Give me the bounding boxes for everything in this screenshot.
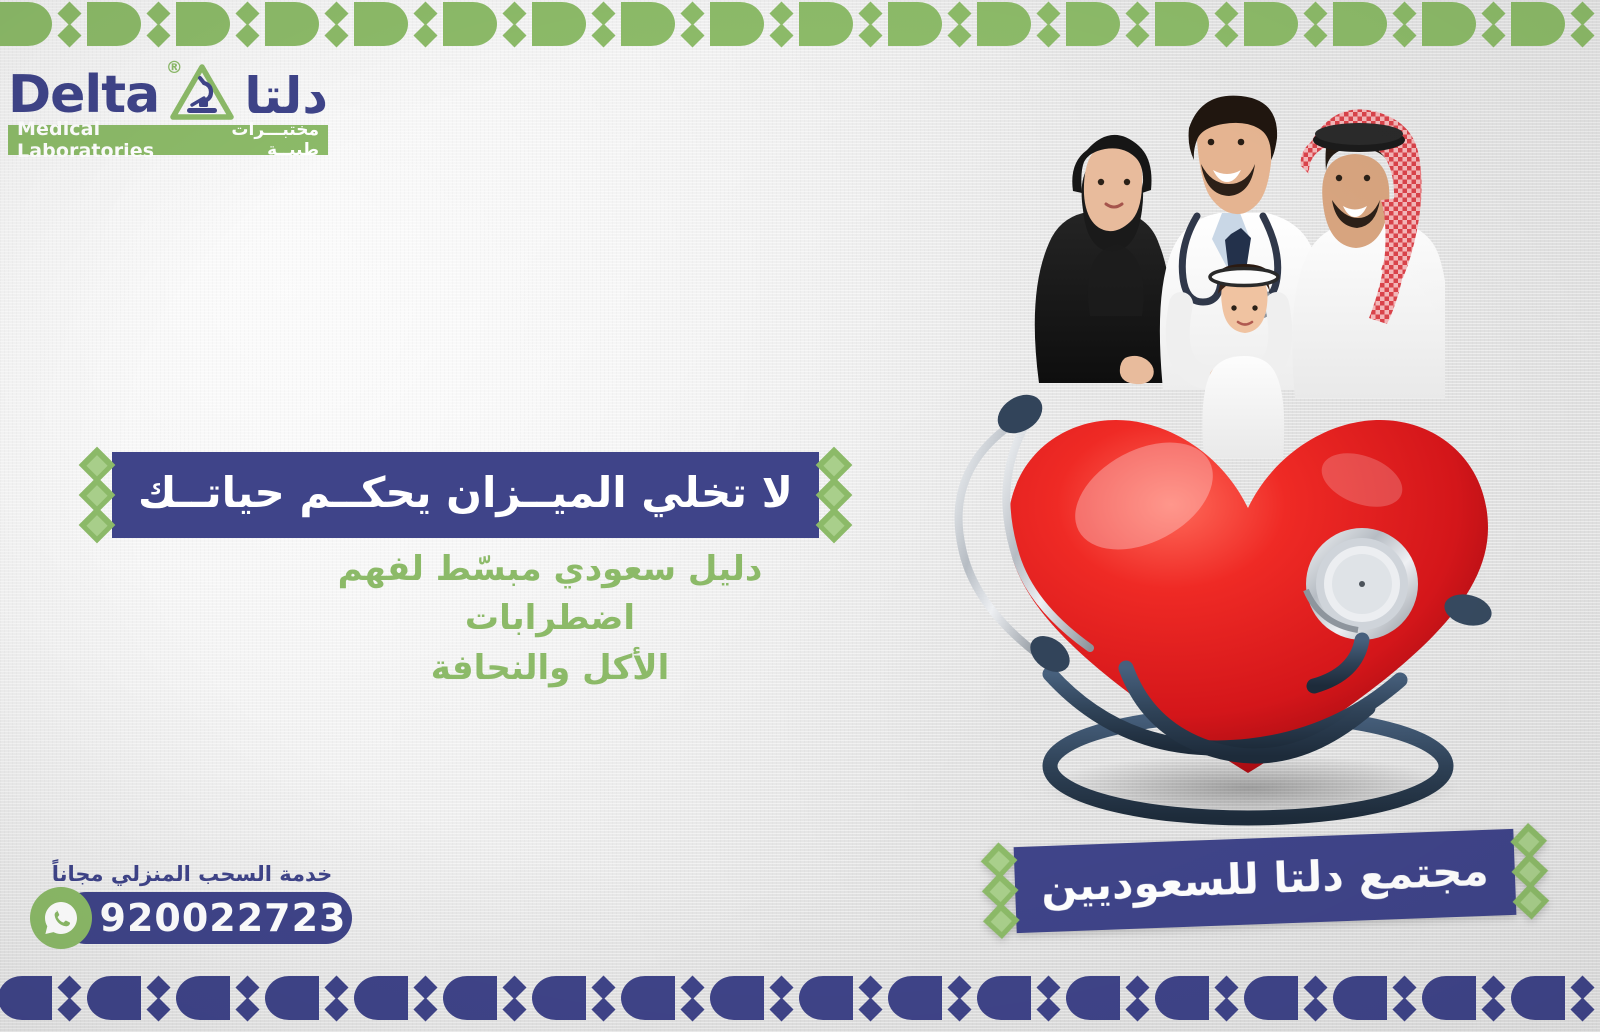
diamond-icon xyxy=(1214,23,1238,47)
border-diamond-pair xyxy=(862,979,879,1018)
diamond-icon xyxy=(235,997,259,1021)
banner-diamond-icon xyxy=(79,507,116,544)
delta-d-icon xyxy=(87,2,141,46)
delta-d-icon xyxy=(265,976,319,1020)
delta-d-icon xyxy=(1333,2,1387,46)
border-motif xyxy=(1155,2,1244,46)
diamond-icon xyxy=(1481,23,1505,47)
diamond-icon xyxy=(502,1,526,25)
community-ribbon: مجتمع دلتا للسعوديين xyxy=(984,828,1546,934)
diamond-icon xyxy=(324,23,348,47)
banner-diamond-icon xyxy=(983,902,1020,939)
border-diamond-pair xyxy=(506,979,523,1018)
diamond-icon xyxy=(1125,23,1149,47)
delta-d-icon xyxy=(1155,2,1209,46)
border-diamond-pair xyxy=(684,5,701,44)
delta-d-icon xyxy=(87,976,141,1020)
subtitle-line-2: الأكل والنحافة xyxy=(310,644,790,693)
delta-d-icon xyxy=(354,976,408,1020)
border-diamond-pair xyxy=(239,5,256,44)
border-diamond-pair xyxy=(1040,5,1057,44)
diamond-icon xyxy=(413,997,437,1021)
border-motif xyxy=(532,976,621,1020)
phone-number[interactable]: 920022723 xyxy=(66,896,347,940)
banner-right-diamonds xyxy=(82,452,112,538)
subtitle-block: دليل سعودي مبسّط لفهم اضطرابات الأكل وال… xyxy=(310,545,790,693)
diamond-icon xyxy=(146,975,170,999)
contact-block: خدمة السحب المنزلي مجاناً 920022723 xyxy=(30,862,360,944)
diamond-icon xyxy=(413,23,437,47)
diamond-icon xyxy=(502,975,526,999)
delta-d-icon xyxy=(710,976,764,1020)
border-diamond-pair xyxy=(1307,979,1324,1018)
delta-d-icon xyxy=(799,2,853,46)
border-motif xyxy=(1066,2,1155,46)
diamond-icon xyxy=(324,1,348,25)
border-diamond-pair xyxy=(595,5,612,44)
border-diamond-pair xyxy=(61,979,78,1018)
diamond-icon xyxy=(146,1,170,25)
diamond-icon xyxy=(1125,997,1149,1021)
subtitle-line-1: دليل سعودي مبسّط لفهم اضطرابات xyxy=(310,545,790,644)
diamond-icon xyxy=(146,997,170,1021)
border-diamond-pair xyxy=(1396,5,1413,44)
delta-d-icon xyxy=(888,2,942,46)
border-motif xyxy=(888,2,977,46)
border-motif xyxy=(1511,976,1600,1020)
delta-d-icon xyxy=(1511,2,1565,46)
diamond-icon xyxy=(947,975,971,999)
diamond-icon xyxy=(502,997,526,1021)
diamond-icon xyxy=(324,997,348,1021)
border-motif xyxy=(977,976,1066,1020)
headline-text: لا تخلي الميــزان يحكــم حياتــك xyxy=(112,452,819,538)
diamond-icon xyxy=(1570,975,1594,999)
contact-service-label: خدمة السحب المنزلي مجاناً xyxy=(30,862,360,886)
poster-canvas: Delta ® دلتا Medical Laboratories مختبــ… xyxy=(0,0,1600,1032)
diamond-icon xyxy=(57,997,81,1021)
border-diamond-pair xyxy=(328,5,345,44)
border-diamond-pair xyxy=(1129,5,1146,44)
border-diamond-pair xyxy=(1307,5,1324,44)
border-motif xyxy=(710,2,799,46)
border-motif xyxy=(87,976,176,1020)
diamond-icon xyxy=(769,1,793,25)
border-diamond-pair xyxy=(595,979,612,1018)
border-diamond-pair xyxy=(417,5,434,44)
diamond-icon xyxy=(947,997,971,1021)
border-diamond-pair xyxy=(328,979,345,1018)
diamond-icon xyxy=(1570,23,1594,47)
border-motif xyxy=(1511,2,1600,46)
diamond-icon xyxy=(1214,997,1238,1021)
delta-d-icon xyxy=(176,976,230,1020)
delta-d-icon xyxy=(532,2,586,46)
border-diamond-pair xyxy=(862,5,879,44)
diamond-icon xyxy=(1036,975,1060,999)
border-diamond-pair xyxy=(951,5,968,44)
diamond-icon xyxy=(1392,975,1416,999)
border-motif xyxy=(1422,2,1511,46)
diamond-icon xyxy=(1125,975,1149,999)
diamond-icon xyxy=(235,1,259,25)
diamond-icon xyxy=(1392,1,1416,25)
bottom-border-pattern xyxy=(0,964,1600,1032)
border-motif xyxy=(799,2,888,46)
diamond-icon xyxy=(769,975,793,999)
diamond-icon xyxy=(947,23,971,47)
banner-diamond-icon xyxy=(1512,883,1549,920)
man-figure xyxy=(1292,109,1445,398)
delta-d-icon xyxy=(532,976,586,1020)
diamond-icon xyxy=(591,997,615,1021)
delta-d-icon xyxy=(1155,976,1209,1020)
border-motif xyxy=(532,2,621,46)
ribbon-text: مجتمع دلتا للسعوديين xyxy=(1014,829,1517,933)
diamond-icon xyxy=(1036,23,1060,47)
border-motif xyxy=(1333,2,1422,46)
diamond-icon xyxy=(1481,997,1505,1021)
border-motif xyxy=(1244,2,1333,46)
border-motif xyxy=(354,2,443,46)
phone-pill[interactable]: 920022723 xyxy=(60,892,352,944)
border-motif xyxy=(443,2,532,46)
delta-d-icon xyxy=(977,2,1031,46)
logo-tagline-en: Medical Laboratories xyxy=(17,118,201,162)
border-motif xyxy=(1333,976,1422,1020)
diamond-icon xyxy=(1481,1,1505,25)
delta-d-icon xyxy=(1333,976,1387,1020)
diamond-icon xyxy=(1303,975,1327,999)
delta-d-icon xyxy=(1244,2,1298,46)
border-motif xyxy=(1422,976,1511,1020)
diamond-icon xyxy=(680,1,704,25)
diamond-icon xyxy=(1481,975,1505,999)
diamond-icon xyxy=(1392,23,1416,47)
diamond-icon xyxy=(502,23,526,47)
diamond-icon xyxy=(235,975,259,999)
border-diamond-pair xyxy=(773,979,790,1018)
border-motif xyxy=(710,976,799,1020)
headline-banner: لا تخلي الميــزان يحكــم حياتــك xyxy=(82,452,849,538)
border-motif xyxy=(87,2,176,46)
diamond-icon xyxy=(57,1,81,25)
border-diamond-pair xyxy=(417,979,434,1018)
border-motif xyxy=(176,2,265,46)
delta-d-icon xyxy=(176,2,230,46)
border-motif xyxy=(265,976,354,1020)
whatsapp-icon[interactable] xyxy=(30,887,92,949)
delta-d-icon xyxy=(1422,976,1476,1020)
border-diamond-pair xyxy=(1574,5,1591,44)
ribbon-right-diamonds xyxy=(984,847,1017,934)
border-diamond-pair xyxy=(1574,979,1591,1018)
border-motif xyxy=(977,2,1066,46)
diamond-icon xyxy=(1214,975,1238,999)
border-diamond-pair xyxy=(1218,979,1235,1018)
logo-tagline-ar: مختبـــرات طبيــة xyxy=(201,120,319,160)
diamond-icon xyxy=(591,1,615,25)
delta-d-icon xyxy=(888,976,942,1020)
diamond-icon xyxy=(591,975,615,999)
delta-d-icon xyxy=(621,976,675,1020)
border-motif xyxy=(1066,976,1155,1020)
diamond-icon xyxy=(680,975,704,999)
border-diamond-pair xyxy=(239,979,256,1018)
diamond-icon xyxy=(413,975,437,999)
border-motif xyxy=(1244,976,1333,1020)
diamond-icon xyxy=(947,1,971,25)
border-motif xyxy=(888,976,977,1020)
border-motif xyxy=(176,976,265,1020)
logo-tagline-bar: Medical Laboratories مختبـــرات طبيــة xyxy=(8,125,328,155)
border-motif xyxy=(443,976,532,1020)
delta-logo: Delta ® دلتا Medical Laboratories مختبــ… xyxy=(8,58,328,155)
delta-d-icon xyxy=(621,2,675,46)
border-diamond-pair xyxy=(506,5,523,44)
delta-d-icon xyxy=(710,2,764,46)
border-diamond-pair xyxy=(684,979,701,1018)
delta-d-icon xyxy=(0,2,52,46)
microscope-in-triangle-icon: ® xyxy=(170,60,236,120)
ribbon-left-diamonds xyxy=(1513,828,1546,915)
diamond-icon xyxy=(413,1,437,25)
delta-d-icon xyxy=(443,2,497,46)
diamond-icon xyxy=(858,1,882,25)
woman-figure xyxy=(1035,135,1172,384)
border-diamond-pair xyxy=(1040,979,1057,1018)
diamond-icon xyxy=(1392,997,1416,1021)
delta-d-icon xyxy=(265,2,319,46)
border-motif xyxy=(0,976,87,1020)
delta-d-icon xyxy=(443,976,497,1020)
delta-d-icon xyxy=(1422,2,1476,46)
diamond-icon xyxy=(1214,1,1238,25)
diamond-icon xyxy=(680,997,704,1021)
diamond-icon xyxy=(858,975,882,999)
delta-d-icon xyxy=(977,976,1031,1020)
diamond-icon xyxy=(769,997,793,1021)
top-border-pattern xyxy=(0,0,1600,48)
border-motif xyxy=(265,2,354,46)
diamond-icon xyxy=(1303,1,1327,25)
border-diamond-pair xyxy=(150,979,167,1018)
delta-d-icon xyxy=(1244,976,1298,1020)
banner-left-diamonds xyxy=(819,452,849,538)
delta-d-icon xyxy=(1066,976,1120,1020)
diamond-icon xyxy=(1036,997,1060,1021)
border-motif xyxy=(621,2,710,46)
border-motif xyxy=(621,976,710,1020)
heart-with-stethoscope xyxy=(930,368,1550,838)
delta-d-icon xyxy=(354,2,408,46)
logo-name-ar: دلتا xyxy=(244,73,328,121)
diamond-icon xyxy=(1570,1,1594,25)
border-diamond-pair xyxy=(150,5,167,44)
border-diamond-pair xyxy=(1129,979,1146,1018)
border-diamond-pair xyxy=(951,979,968,1018)
border-motif xyxy=(0,2,87,46)
border-motif xyxy=(799,976,888,1020)
diamond-icon xyxy=(235,23,259,47)
diamond-icon xyxy=(1036,1,1060,25)
border-motif xyxy=(354,976,443,1020)
logo-name-en: Delta xyxy=(8,71,159,120)
delta-d-icon xyxy=(0,976,52,1020)
border-diamond-pair xyxy=(1218,5,1235,44)
border-diamond-pair xyxy=(773,5,790,44)
border-motif xyxy=(1155,976,1244,1020)
delta-d-icon xyxy=(799,976,853,1020)
diamond-icon xyxy=(591,23,615,47)
border-diamond-pair xyxy=(1485,5,1502,44)
diamond-icon xyxy=(57,23,81,47)
delta-d-icon xyxy=(1066,2,1120,46)
delta-d-icon xyxy=(1511,976,1565,1020)
diamond-icon xyxy=(1303,23,1327,47)
border-diamond-pair xyxy=(1485,979,1502,1018)
diamond-icon xyxy=(680,23,704,47)
border-diamond-pair xyxy=(1396,979,1413,1018)
diamond-icon xyxy=(769,23,793,47)
diamond-icon xyxy=(324,975,348,999)
diamond-icon xyxy=(858,23,882,47)
diamond-icon xyxy=(57,975,81,999)
diamond-icon xyxy=(146,23,170,47)
diamond-icon xyxy=(1125,1,1149,25)
diamond-icon xyxy=(1303,997,1327,1021)
diamond-icon xyxy=(858,997,882,1021)
border-diamond-pair xyxy=(61,5,78,44)
banner-diamond-icon xyxy=(816,507,853,544)
diamond-icon xyxy=(1570,997,1594,1021)
